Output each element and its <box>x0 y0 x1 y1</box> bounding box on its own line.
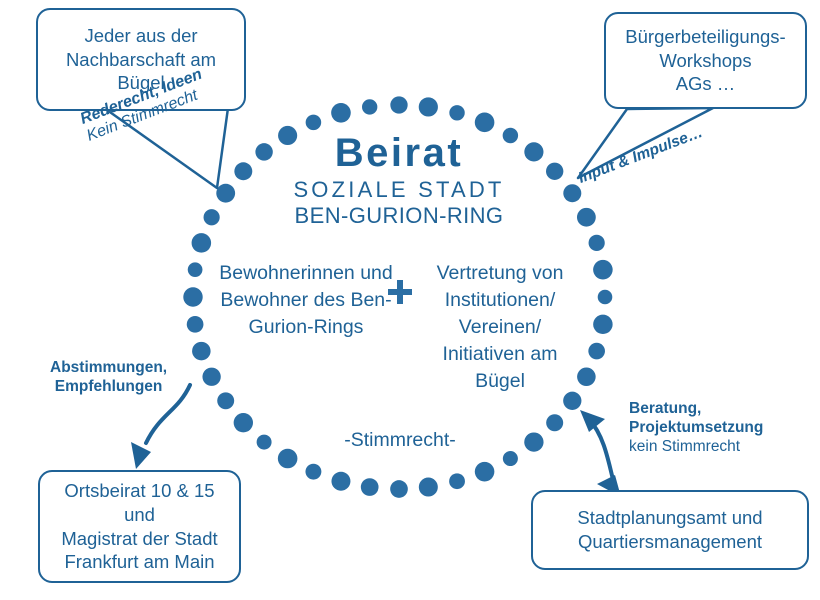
circle-group-institutions: Vertretung von Institutionen/ Vereinen/ … <box>420 260 580 395</box>
circle-title: Beirat <box>289 131 509 176</box>
box-local-council-line4: Frankfurt am Main <box>46 550 233 574</box>
circle-subtitle-location: BEN-GURION-RING <box>279 203 519 229</box>
group-institutions-line2: von <box>532 262 563 284</box>
label-abstimmungen-line1: Abstimmungen, <box>50 359 167 378</box>
label-beratung: Beratung, Projektumsetzung kein Stimmrec… <box>629 400 763 457</box>
label-abstimmungen-line2: Empfehlungen <box>50 378 167 397</box>
group-residents-line1: Bewohnerinnen <box>219 262 355 284</box>
box-city-planning-line2: Quartiersmanagement <box>539 530 801 554</box>
group-institutions-line4: Vereinen/ <box>459 316 541 338</box>
bubble-neighbourhood-line2: Nachbarschaft am <box>44 48 238 72</box>
circle-subtitle-program: SOZIALE STADT <box>279 177 519 203</box>
bubble-participation-line3: AGs … <box>612 72 799 96</box>
group-institutions-line5: Initiativen <box>443 343 525 365</box>
box-local-council-line3: Magistrat der Stadt <box>46 527 233 551</box>
arrow-abstimmungen <box>131 385 190 469</box>
box-city-planning[interactable]: Stadtplanungsamt und Quartiersmanagement <box>531 490 809 570</box>
box-local-council-line1: Ortsbeirat 10 & 15 <box>46 479 233 503</box>
label-beratung-line3: kein Stimmrecht <box>629 438 763 457</box>
label-beratung-line1: Beratung, <box>629 400 763 419</box>
bubble-neighbourhood-line1: Jeder aus der <box>44 24 238 48</box>
bubble-participation[interactable]: Bürgerbeteiligungs- Workshops AGs … <box>604 12 807 109</box>
box-local-council-line2: und <box>46 503 233 527</box>
circle-group-residents: Bewohnerinnen und Bewohner des Ben-Gurio… <box>216 260 396 341</box>
bubble-participation-line2: Workshops <box>612 49 799 73</box>
label-beratung-line2: Projektumsetzung <box>629 419 763 438</box>
circle-voting-note: -Stimmrecht- <box>320 429 480 452</box>
group-institutions-line3: Institutionen/ <box>445 289 556 311</box>
box-city-planning-line1: Stadtplanungsamt und <box>539 506 801 530</box>
arrow-beratung <box>580 410 621 497</box>
diagram-canvas: Jeder aus der Nachbarschaft am Bügel Bür… <box>0 0 820 600</box>
group-residents-line3: des <box>314 289 345 311</box>
box-local-council[interactable]: Ortsbeirat 10 & 15 und Magistrat der Sta… <box>38 470 241 583</box>
group-institutions-line1: Vertretung <box>437 262 527 284</box>
label-abstimmungen: Abstimmungen, Empfehlungen <box>50 359 167 397</box>
bubble-participation-line1: Bürgerbeteiligungs- <box>612 25 799 49</box>
plus-icon <box>384 276 416 308</box>
